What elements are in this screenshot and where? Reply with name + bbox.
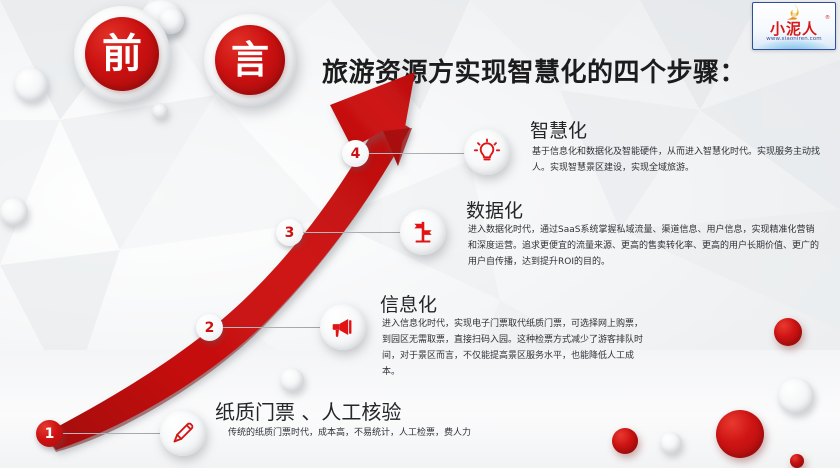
decorative-sphere-red — [774, 318, 802, 346]
step-icon-4[interactable] — [464, 129, 510, 175]
step-heading-3: 数据化 — [466, 196, 523, 223]
step-number-1[interactable]: 1 — [36, 420, 63, 447]
header-badge-left-text: 前 — [102, 34, 142, 74]
step-body-4: 基于信息化和数据化及智能硬件，从而进入智慧化时代。实现服务主动找人。实现智慧景区… — [532, 144, 828, 176]
step-body-3: 进入数据化时代，通过SaaS系统掌握私域流量、渠道信息、用户信息，实现精准化营销… — [468, 222, 820, 270]
step-number-3[interactable]: 3 — [276, 219, 303, 246]
step-icon-3[interactable] — [400, 209, 446, 255]
decorative-sphere-red — [716, 410, 764, 458]
header-badge-left: 前 — [74, 6, 170, 102]
decorative-sphere — [778, 378, 814, 414]
decorative-sphere — [152, 103, 168, 119]
step-body-1: 传统的纸质门票时代，成本高，不易统计，人工检票，费人力 — [228, 425, 528, 441]
step-number-2[interactable]: 2 — [196, 314, 223, 341]
step-heading-2: 信息化 — [380, 290, 437, 317]
wave-decoration — [753, 39, 835, 49]
step-connector-2 — [222, 327, 330, 328]
data-chart-icon — [410, 219, 436, 245]
decorative-sphere-red — [790, 454, 804, 468]
page-title: 旅游资源方实现智慧化的四个步骤： — [322, 52, 746, 89]
step-connector-3 — [302, 232, 410, 233]
step-number-4[interactable]: 4 — [342, 140, 369, 167]
step-heading-4: 智慧化 — [530, 116, 587, 143]
step-icon-1[interactable] — [160, 410, 206, 456]
decorative-sphere — [660, 432, 682, 454]
step-body-2: 进入信息化时代，实现电子门票取代纸质门票，可选择网上购票，到园区无需取票，直接扫… — [382, 316, 650, 380]
decorative-sphere — [0, 198, 28, 226]
step-icon-2[interactable] — [320, 304, 366, 350]
lightbulb-icon — [473, 138, 501, 166]
slide-canvas: 前 言 旅游资源方实现智慧化的四个步骤： — [0, 0, 840, 468]
brand-logo[interactable]: ® 小泥人 www.xiaoniren.com — [752, 2, 836, 50]
header-badge-right: 言 — [204, 14, 296, 106]
decorative-sphere — [280, 368, 304, 392]
decorative-sphere — [14, 68, 48, 102]
step-connector-4 — [368, 153, 476, 154]
pencil-icon — [170, 420, 196, 446]
decorative-sphere-red — [612, 428, 638, 454]
header-badge-right-text: 言 — [231, 41, 269, 79]
step-connector-1 — [62, 433, 170, 434]
megaphone-icon — [330, 314, 356, 340]
step-heading-1: 纸质门票 、人工核验 — [215, 396, 401, 425]
